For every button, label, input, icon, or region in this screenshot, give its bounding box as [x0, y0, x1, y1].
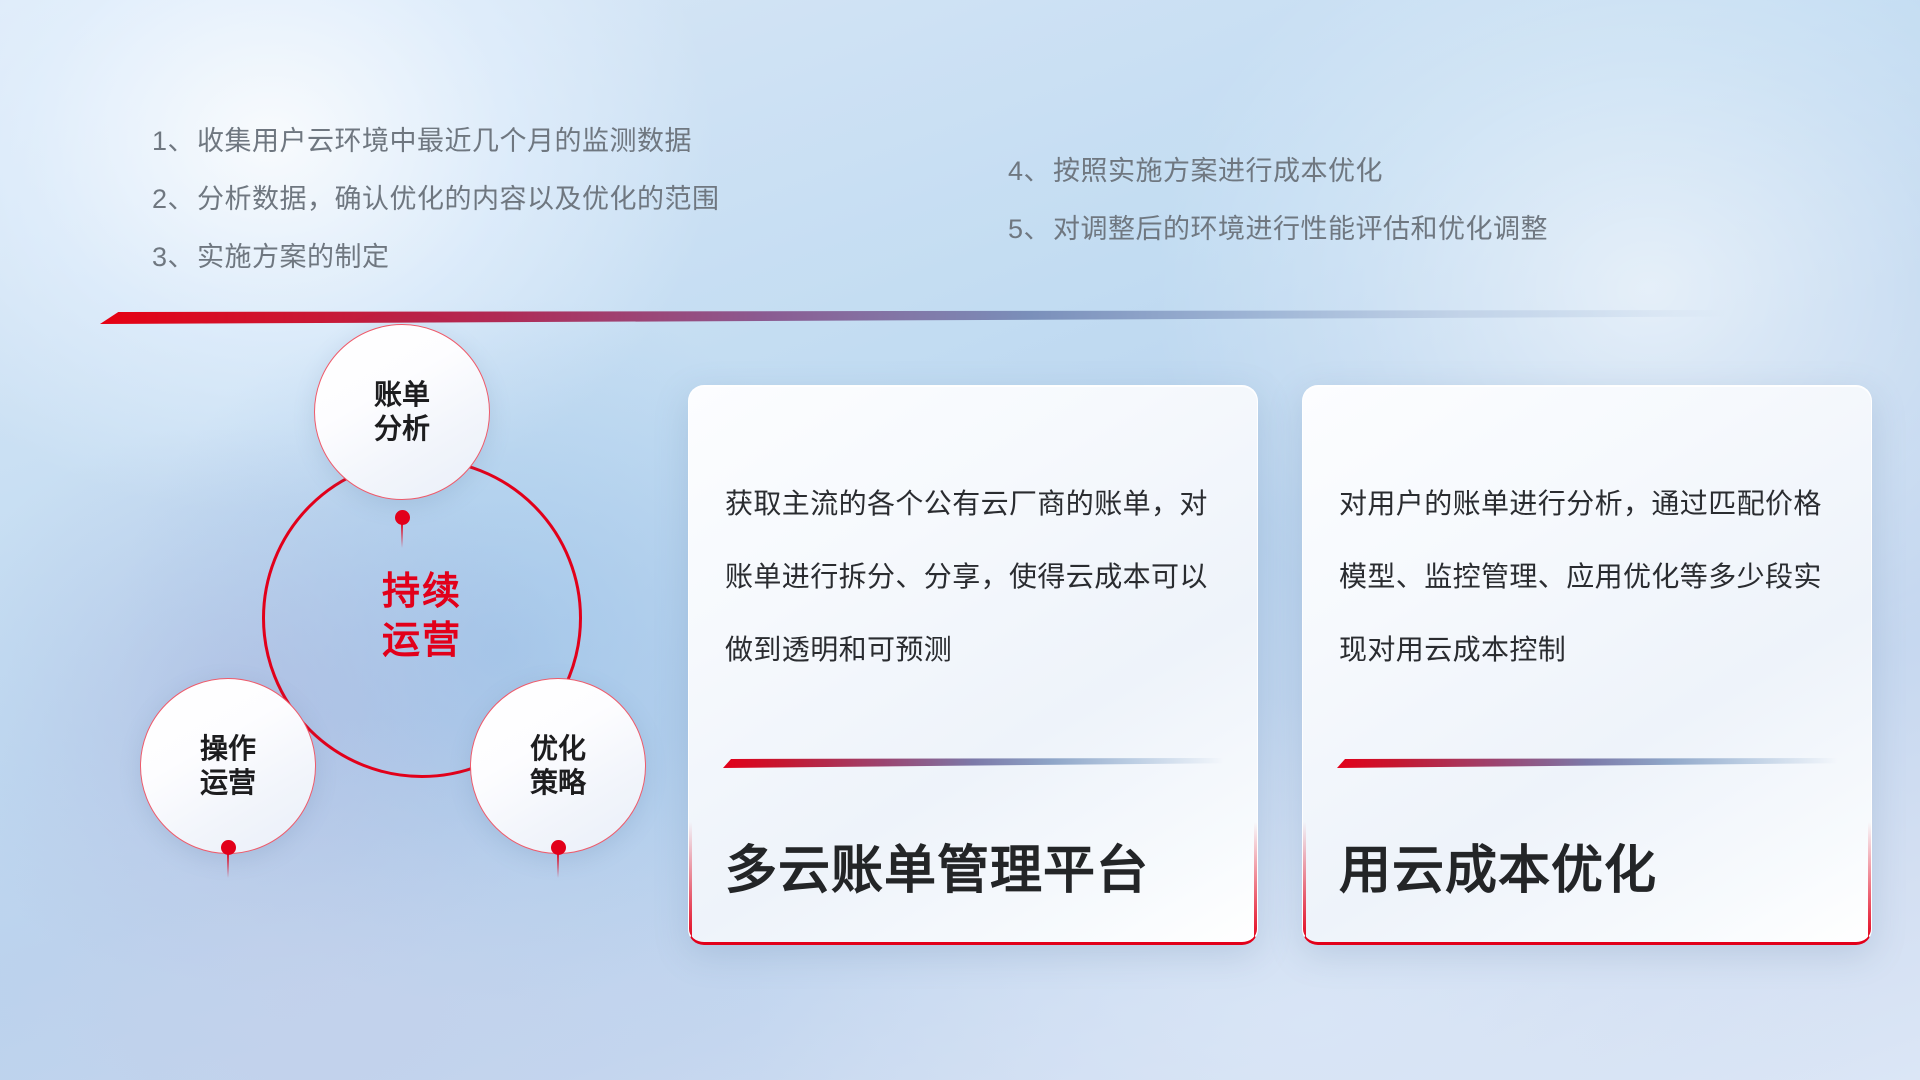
venn-diagram: 持续 运营 账单 分析 操作 运营 优化 策略 — [90, 340, 650, 940]
step-text-1: 收集用户云环境中最近几个月的监测数据 — [197, 126, 692, 156]
steps-list-right: 4、按照实施方案进行成本优化 5、对调整后的环境进行性能评估和优化调整 — [1008, 158, 1548, 274]
card-right-divider-bar — [1337, 758, 1837, 768]
venn-dot-bottom-right — [551, 840, 566, 855]
steps-list-left: 1、收集用户云环境中最近几个月的监测数据 2、分析数据，确认优化的内容以及优化的… — [152, 128, 720, 302]
card-left-divider-bar — [723, 758, 1223, 768]
section-divider-bar — [100, 310, 1760, 324]
step-number-3: 3、 — [152, 242, 195, 272]
card-left-divider — [723, 758, 1223, 768]
step-number-4: 4、 — [1008, 156, 1051, 186]
step-number-2: 2、 — [152, 184, 195, 214]
venn-bubble-optimization-strategy[interactable]: 优化 策略 — [470, 678, 646, 854]
step-item-5: 5、对调整后的环境进行性能评估和优化调整 — [1008, 216, 1548, 243]
venn-dot-top — [395, 510, 410, 525]
venn-bubble-br-line-2: 策略 — [530, 766, 586, 800]
venn-tick-top — [401, 522, 403, 548]
card-right-body-text: 对用户的账单进行分析，通过匹配价格模型、监控管理、应用优化等多少段实现对用云成本… — [1339, 468, 1843, 686]
step-text-3: 实施方案的制定 — [197, 242, 390, 272]
venn-bubble-top-line-2: 分析 — [374, 412, 430, 446]
venn-bubble-top-line-1: 账单 — [374, 378, 430, 412]
card-right-divider — [1337, 758, 1837, 768]
venn-center-line-2: 运营 — [382, 617, 462, 666]
venn-tick-bottom-right — [557, 852, 559, 878]
venn-bubble-billing-analysis[interactable]: 账单 分析 — [314, 324, 490, 500]
venn-bubble-bl-line-1: 操作 — [200, 732, 256, 766]
step-item-4: 4、按照实施方案进行成本优化 — [1008, 158, 1548, 185]
step-text-2: 分析数据，确认优化的内容以及优化的范围 — [197, 184, 720, 214]
step-item-2: 2、分析数据，确认优化的内容以及优化的范围 — [152, 186, 720, 213]
venn-center-label: 持续 运营 — [322, 532, 522, 702]
venn-dot-bottom-left — [221, 840, 236, 855]
card-multicloud-billing-platform[interactable]: 获取主流的各个公有云厂商的账单，对账单进行拆分、分享，使得云成本可以做到透明和可… — [688, 385, 1258, 945]
step-number-5: 5、 — [1008, 214, 1051, 244]
venn-center-line-1: 持续 — [382, 568, 462, 617]
card-cloud-cost-optimization[interactable]: 对用户的账单进行分析，通过匹配价格模型、监控管理、应用优化等多少段实现对用云成本… — [1302, 385, 1872, 945]
venn-bubble-operations[interactable]: 操作 运营 — [140, 678, 316, 854]
step-item-1: 1、收集用户云环境中最近几个月的监测数据 — [152, 128, 720, 155]
step-number-1: 1、 — [152, 126, 195, 156]
step-text-5: 对调整后的环境进行性能评估和优化调整 — [1053, 214, 1548, 244]
step-item-3: 3、实施方案的制定 — [152, 244, 720, 271]
venn-bubble-br-line-1: 优化 — [530, 732, 586, 766]
venn-tick-bottom-left — [227, 852, 229, 878]
card-right-title: 用云成本优化 — [1339, 828, 1851, 903]
step-text-4: 按照实施方案进行成本优化 — [1053, 156, 1383, 186]
venn-bubble-bl-line-2: 运营 — [200, 766, 256, 800]
section-divider — [100, 310, 1760, 324]
card-left-title: 多云账单管理平台 — [725, 828, 1237, 903]
card-left-body-text: 获取主流的各个公有云厂商的账单，对账单进行拆分、分享，使得云成本可以做到透明和可… — [725, 468, 1229, 686]
